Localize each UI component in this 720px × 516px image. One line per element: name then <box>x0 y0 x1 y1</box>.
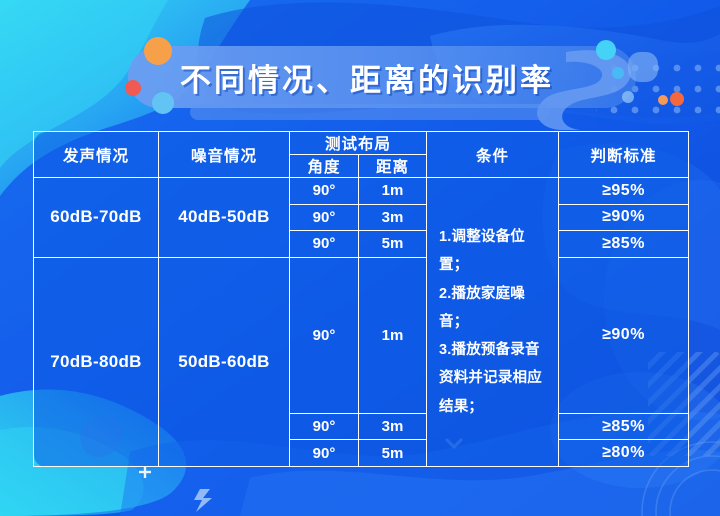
cell-distance: 5m <box>359 231 427 258</box>
cell-standard: ≥90% <box>559 204 689 231</box>
cell-distance: 3m <box>359 204 427 231</box>
cell-angle: 90° <box>290 204 359 231</box>
table-header-row-1: 发声情况 噪音情况 测试布局 条件 判断标准 <box>34 132 689 155</box>
cell-noise-group-1: 40dB-50dB <box>159 178 290 258</box>
recognition-rate-table-container: 发声情况 噪音情况 测试布局 条件 判断标准 角度 距离 60dB-70dB 4… <box>33 131 688 467</box>
cell-distance: 1m <box>359 257 427 413</box>
cell-distance: 1m <box>359 178 427 205</box>
table-row: 60dB-70dB 40dB-50dB 90° 1m 1.调整设备位置；2.播放… <box>34 178 689 205</box>
table-row: 70dB-80dB 50dB-60dB 90° 1m ≥90% <box>34 257 689 413</box>
header-distance: 距离 <box>359 155 427 178</box>
recognition-rate-table: 发声情况 噪音情况 测试布局 条件 判断标准 角度 距离 60dB-70dB 4… <box>33 131 689 467</box>
cell-noise-group-2: 50dB-60dB <box>159 257 290 466</box>
cell-angle: 90° <box>290 231 359 258</box>
title-banner: 不同情况、距离的识别率 <box>0 46 720 108</box>
cell-distance: 5m <box>359 440 427 467</box>
cell-angle: 90° <box>290 178 359 205</box>
header-standard: 判断标准 <box>559 132 689 178</box>
header-sound-condition: 发声情况 <box>34 132 159 178</box>
cell-standard: ≥90% <box>559 257 689 413</box>
cell-standard: ≥95% <box>559 178 689 205</box>
cell-sound-group-1: 60dB-70dB <box>34 178 159 258</box>
cell-condition-text: 1.调整设备位置；2.播放家庭噪音；3.播放预备录音资料并记录相应结果； <box>427 178 559 467</box>
cell-standard: ≥85% <box>559 231 689 258</box>
header-condition: 条件 <box>427 132 559 178</box>
cell-angle: 90° <box>290 413 359 440</box>
header-test-layout: 测试布局 <box>290 132 427 155</box>
cell-angle: 90° <box>290 257 359 413</box>
cell-angle: 90° <box>290 440 359 467</box>
cell-sound-group-2: 70dB-80dB <box>34 257 159 466</box>
header-noise-condition: 噪音情况 <box>159 132 290 178</box>
cell-standard: ≥85% <box>559 413 689 440</box>
page-title: 不同情况、距离的识别率 <box>0 46 720 108</box>
cell-distance: 3m <box>359 413 427 440</box>
cell-standard: ≥80% <box>559 440 689 467</box>
header-angle: 角度 <box>290 155 359 178</box>
